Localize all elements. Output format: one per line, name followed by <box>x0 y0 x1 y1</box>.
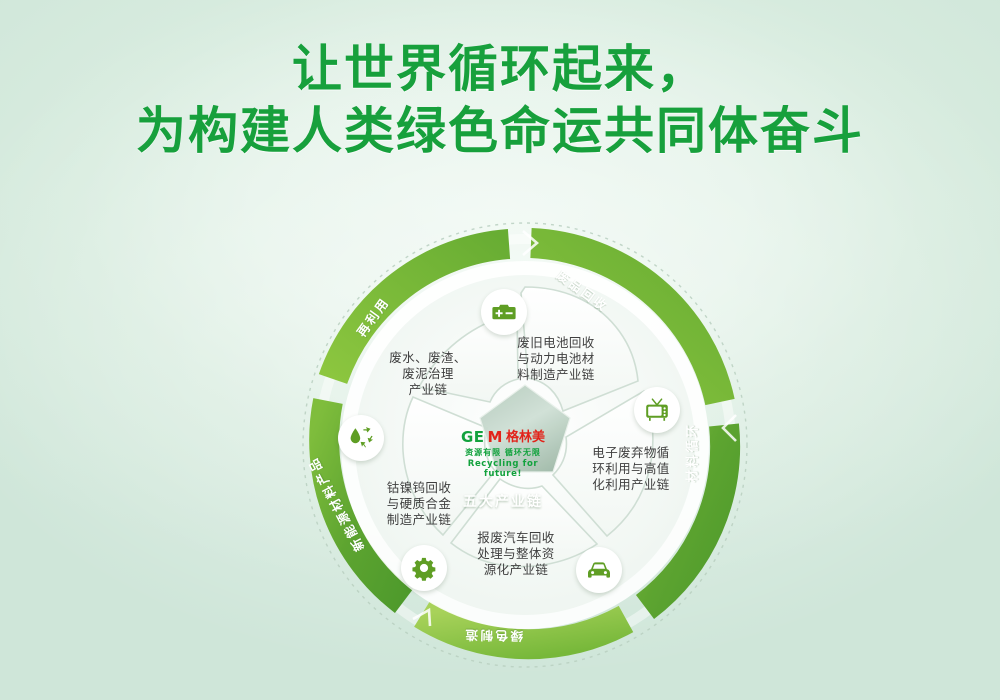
logo-chinese-name: 格林美 <box>506 431 545 444</box>
television-icon-bubble[interactable] <box>634 387 680 433</box>
gear-icon-bubble[interactable] <box>401 545 447 591</box>
logo-slogan-en: Recycling for future! <box>455 459 551 479</box>
water-recycle-icon-bubble[interactable] <box>338 415 384 461</box>
television-icon <box>644 397 670 423</box>
page-title: 让世界循环起来， 为构建人类绿色命运共同体奋斗 <box>0 38 1000 162</box>
car-icon-bubble[interactable] <box>576 547 622 593</box>
core-label: 五大产业链 <box>455 491 551 511</box>
battery-icon <box>491 299 517 325</box>
poster-canvas: 让世界循环起来， 为构建人类绿色命运共同体奋斗 <box>0 0 1000 700</box>
logo-latin: GE <box>461 430 485 445</box>
title-line-2: 为构建人类绿色命运共同体奋斗 <box>0 100 1000 162</box>
gem-logo: GEM 格林美 资源有限 循环无限 Recycling for future! … <box>455 430 551 504</box>
battery-icon-bubble[interactable] <box>481 289 527 335</box>
logo-wordmark: GEM 格林美 <box>455 430 551 445</box>
car-icon <box>586 557 612 583</box>
gear-icon <box>411 555 437 581</box>
logo-latin-accent: M <box>488 430 503 445</box>
title-line-1: 让世界循环起来， <box>0 38 1000 100</box>
water-recycle-icon <box>347 424 375 452</box>
logo-slogan-cn: 资源有限 循环无限 <box>455 447 551 458</box>
